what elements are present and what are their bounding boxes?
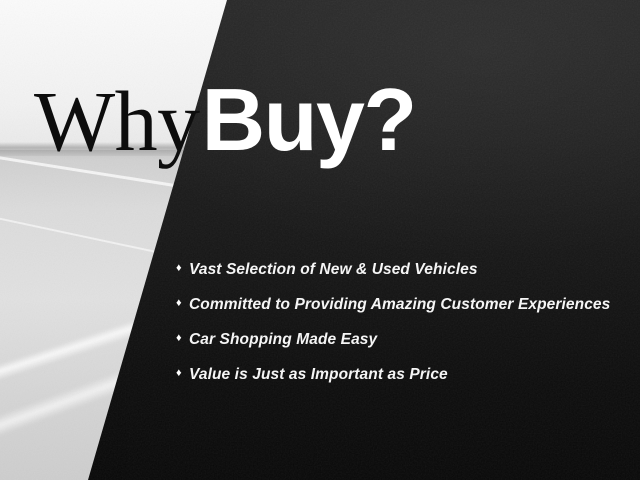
why-buy-slide: Why Buy? ♦ Vast Selection of New & Used …: [0, 0, 640, 480]
page-title: Why Buy?: [34, 76, 416, 164]
list-item-label: Car Shopping Made Easy: [189, 332, 377, 348]
list-item: ♦ Value is Just as Important as Price: [176, 357, 610, 392]
list-item: ♦ Committed to Providing Amazing Custome…: [176, 287, 610, 322]
diamond-bullet-icon: ♦: [176, 263, 189, 274]
list-item-label: Value is Just as Important as Price: [189, 367, 448, 383]
list-item-label: Committed to Providing Amazing Customer …: [189, 297, 610, 313]
list-item: ♦ Car Shopping Made Easy: [176, 322, 610, 357]
diamond-bullet-icon: ♦: [176, 368, 189, 379]
list-item: ♦ Vast Selection of New & Used Vehicles: [176, 252, 610, 287]
diamond-bullet-icon: ♦: [176, 298, 189, 309]
headline-word-why: Why: [34, 78, 200, 164]
diamond-bullet-icon: ♦: [176, 333, 189, 344]
benefits-list: ♦ Vast Selection of New & Used Vehicles …: [176, 252, 610, 392]
list-item-label: Vast Selection of New & Used Vehicles: [189, 262, 478, 278]
headline-word-buy: Buy?: [202, 76, 416, 164]
